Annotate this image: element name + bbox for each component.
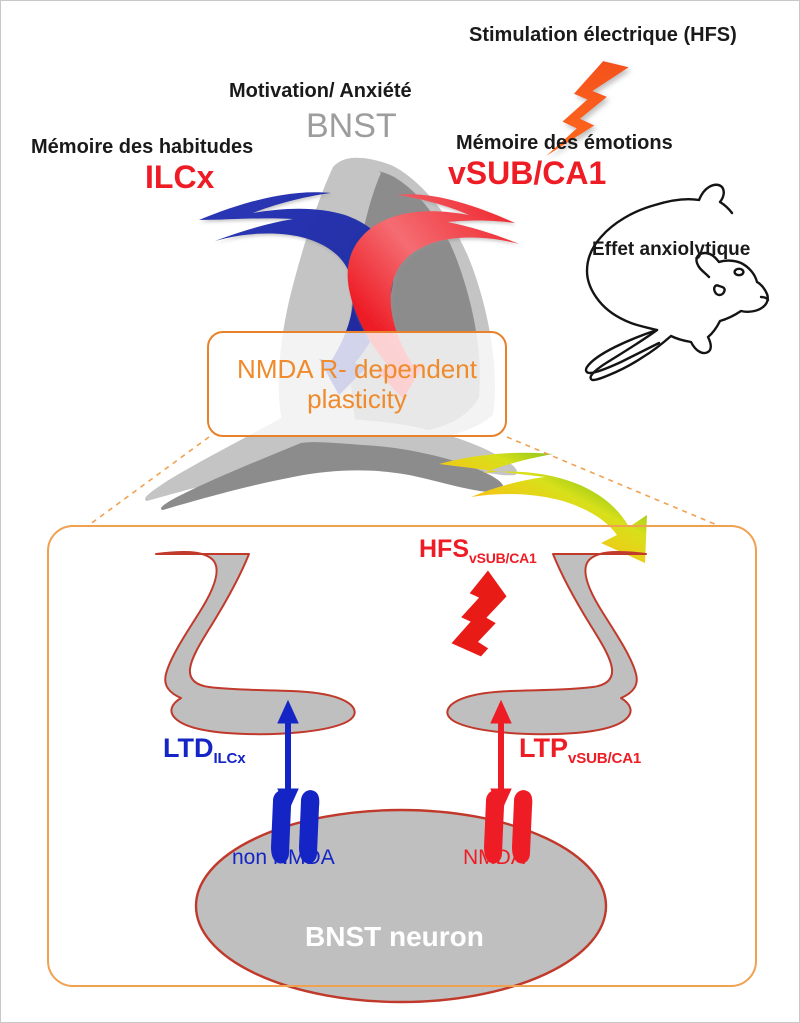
brain-stem-dark — [161, 442, 504, 510]
rat-tail-path — [586, 330, 659, 373]
terminal-label-ilcx: ILCx — [247, 666, 290, 690]
label-motivation-anxiety: Motivation/ Anxiété — [229, 81, 412, 102]
dashed-connectors — [89, 437, 717, 525]
hfs-label: HFSvSUB/CA1 — [419, 536, 537, 562]
terminal-label-vsub: vSUB/CA1 — [456, 666, 556, 690]
dashed-connector-left — [89, 437, 209, 525]
nmda-box-line2: plasticity — [307, 384, 407, 414]
ltp-label: LTPvSUB/CA1 — [519, 734, 641, 762]
label-emotion-memory: Mémoire des émotions — [456, 133, 673, 154]
ltd-label: LTDILCx — [163, 734, 245, 762]
rat-outline-icon — [586, 185, 768, 380]
dashed-connector-right — [507, 437, 717, 525]
rat-body-path — [587, 185, 768, 380]
label-anxiolytic-effect: Effet anxiolytique — [592, 240, 750, 260]
bnst-neuron-label: BNST neuron — [305, 921, 484, 953]
nmda-box-text: NMDA R- dependent plasticity — [237, 354, 477, 414]
label-vsub-ca1: vSUB/CA1 — [448, 157, 606, 191]
ltp-sub-text: vSUB/CA1 — [568, 750, 641, 767]
figure-canvas: Stimulation électrique (HFS) Motivation/… — [0, 0, 800, 1023]
label-habit-memory: Mémoire des habitudes — [31, 137, 253, 158]
rat-eye — [735, 269, 744, 275]
label-bnst: BNST — [306, 109, 397, 145]
receptor-label-non-nmda: non NMDA — [232, 846, 335, 870]
title-electrical-stimulation: Stimulation électrique (HFS) — [469, 25, 737, 46]
nmda-plasticity-box: NMDA R- dependent plasticity — [207, 331, 507, 437]
ltd-sub-text: ILCx — [213, 750, 245, 767]
rat-snout — [761, 297, 768, 300]
receptor-label-nmda: NMDA — [463, 846, 525, 870]
hfs-main-text: HFS — [419, 535, 469, 563]
rat-ear — [714, 285, 724, 295]
label-ilcx: ILCx — [145, 161, 214, 195]
hfs-sub-text: vSUB/CA1 — [469, 550, 537, 566]
ltd-main-text: LTD — [163, 733, 213, 763]
nmda-box-line1: NMDA R- dependent — [237, 354, 477, 384]
ltp-main-text: LTP — [519, 733, 568, 763]
synapse-detail-panel — [47, 525, 757, 987]
